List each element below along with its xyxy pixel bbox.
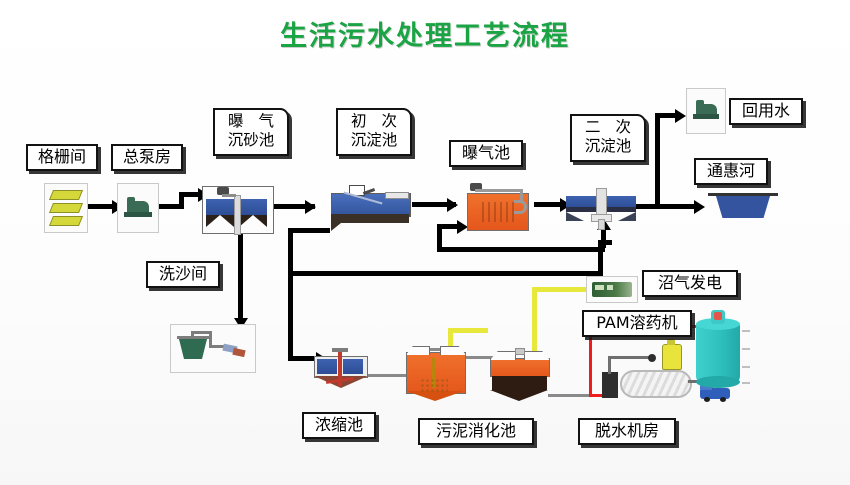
label-primary-line2: 沉淀池: [344, 131, 404, 150]
label-aeration-tank-text: 曝气池: [462, 143, 510, 162]
secondary-sedimentation-icon: [566, 188, 636, 230]
line-grit-to-sandwash: [238, 230, 243, 326]
label-dewatering-room: 脱水机房: [578, 418, 676, 445]
arrow-to-river: [694, 200, 705, 214]
line-ras-riser-to-clarifier: [601, 228, 606, 248]
page-title: 生活污水处理工艺流程: [0, 14, 850, 53]
label-reuse-water-text: 回用水: [742, 101, 790, 120]
grating-room-icon: [44, 183, 88, 233]
biogas-line-riser: [532, 287, 537, 353]
thickening-tank-icon: [312, 348, 368, 390]
label-biogas-power-generation: 沼气发电: [642, 270, 738, 297]
label-primary-sedimentation: 初 次 沉淀池: [336, 108, 412, 156]
pam-dosing-tank-icon: [692, 310, 744, 392]
label-grating-room: 格栅间: [26, 144, 98, 171]
label-aeration-tank: 曝气池: [449, 140, 523, 167]
label-main-pump-house-text: 总泵房: [123, 147, 171, 166]
pipe-digester2-to-dewatering: [548, 394, 594, 397]
label-grating-room-text: 格栅间: [38, 147, 86, 166]
label-tonghui-river: 通惠河: [694, 158, 768, 185]
line-ras-horizontal: [437, 247, 605, 252]
line-sludge-horizontal-trunk: [288, 271, 603, 276]
sand-washing-room-icon: [170, 324, 256, 373]
label-biogas-power-generation-text: 沼气发电: [658, 273, 722, 292]
line-riser-to-reuse: [655, 113, 660, 209]
label-tonghui-river-text: 通惠河: [707, 161, 755, 180]
aeration-tank-icon: [464, 180, 532, 232]
label-thickening-tank: 浓缩池: [302, 412, 376, 439]
sludge-digestion-tank-1-icon: [404, 340, 466, 402]
flowchart-canvas: 生活污水处理工艺流程: [0, 0, 850, 485]
biogas-generator-icon: [586, 276, 638, 303]
label-aerated-grit-chamber: 曝 气 沉砂池: [213, 108, 289, 156]
aerated-grit-chamber-icon: [202, 186, 274, 234]
line-grating-to-pump: [88, 204, 114, 209]
biogas-line-digester-top: [448, 328, 488, 333]
label-sand-washing-room-text: 洗沙间: [159, 264, 207, 283]
label-secondary-line2: 沉淀池: [578, 137, 638, 156]
line-primary-sludge-down: [288, 228, 293, 360]
label-pam-dosing-machine-text: PAM溶药机: [596, 313, 677, 332]
primary-sedimentation-icon: [327, 185, 413, 231]
reuse-water-pump-icon: [686, 88, 726, 134]
line-to-river: [655, 204, 698, 209]
sludge-digestion-tank-2-icon: [488, 348, 550, 404]
label-sludge-digestion-tank: 污泥消化池: [418, 418, 534, 445]
label-aerated-grit-line2: 沉砂池: [221, 131, 281, 150]
label-reuse-water: 回用水: [729, 98, 803, 125]
label-sand-washing-room: 洗沙间: [146, 261, 220, 288]
arrow-primary-to-aeration: [447, 198, 458, 212]
main-pump-house-icon: [117, 183, 159, 233]
label-secondary-line1: 二 次: [578, 118, 638, 137]
line-primary-sludge-top: [288, 228, 330, 233]
label-thickening-tank-text: 浓缩池: [315, 415, 363, 434]
label-pam-dosing-machine: PAM溶药机: [582, 310, 692, 337]
label-aerated-grit-line1: 曝 气: [221, 112, 281, 131]
label-sludge-digestion-tank-text: 污泥消化池: [436, 421, 516, 440]
label-main-pump-house: 总泵房: [111, 144, 183, 171]
label-primary-line1: 初 次: [344, 112, 404, 131]
tonghui-river-icon: [708, 193, 778, 225]
arrow-to-reuse-water: [675, 109, 686, 123]
label-secondary-sedimentation: 二 次 沉淀池: [570, 114, 646, 162]
label-dewatering-room-text: 脱水机房: [595, 421, 659, 440]
arrow-grit-to-primary: [305, 200, 316, 214]
